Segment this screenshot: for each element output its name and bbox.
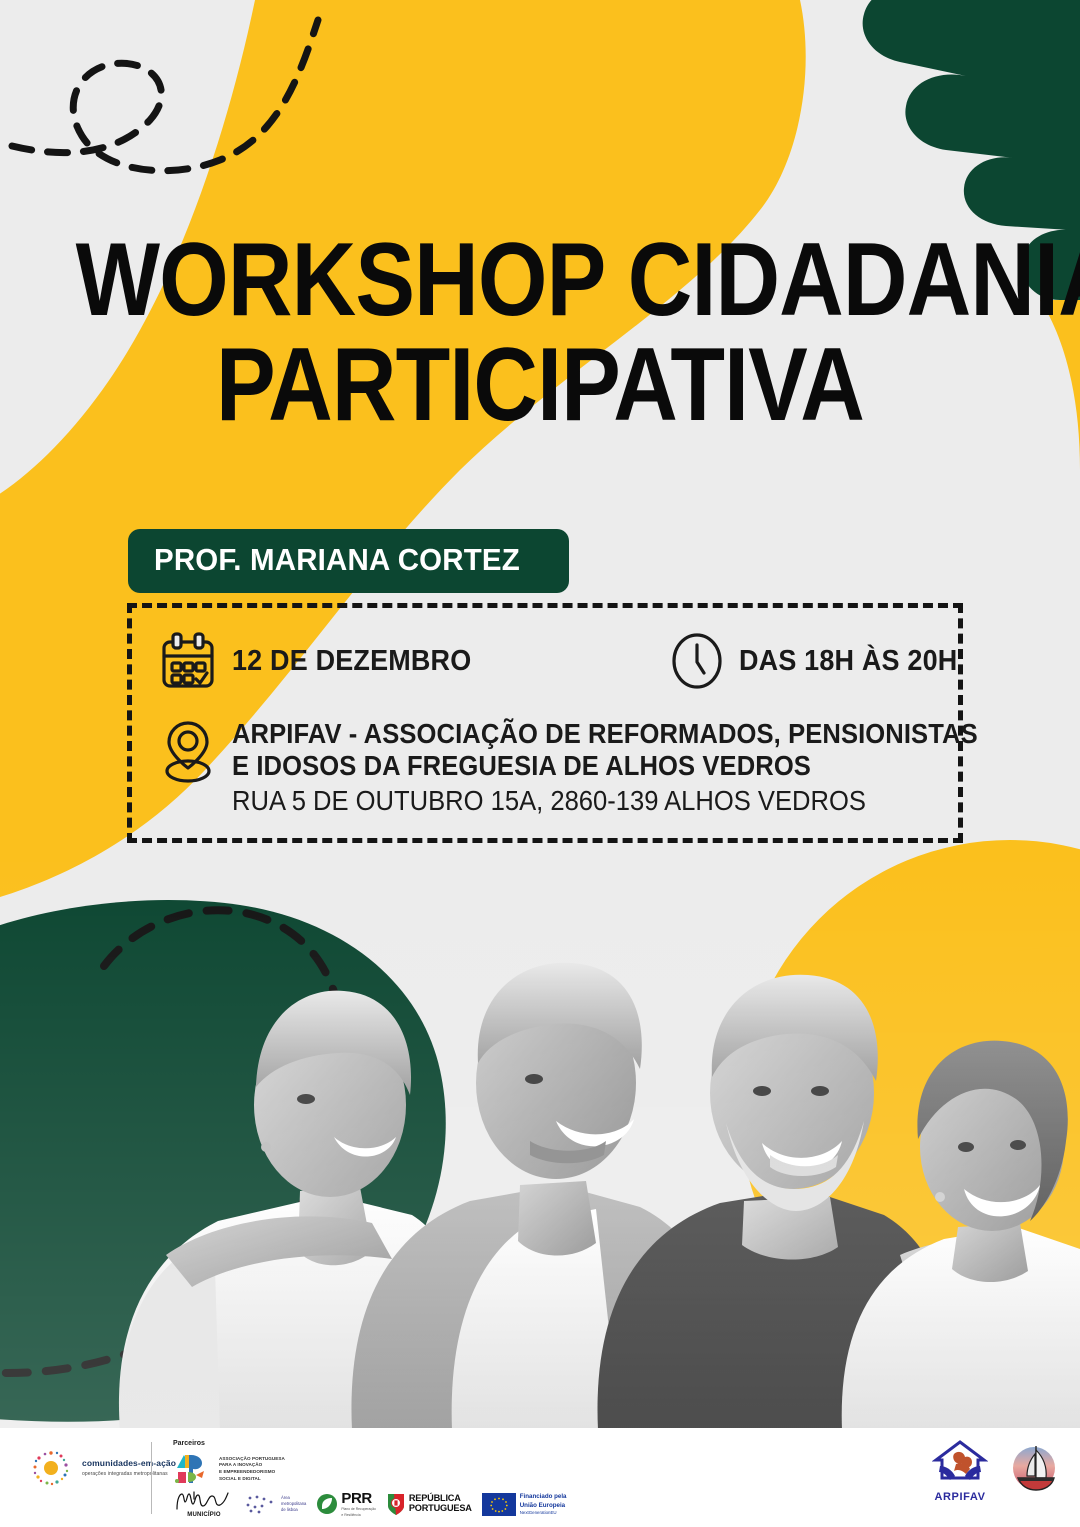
date-time-row: 12 DE DEZEMBRO DAS 18H ÀS 20H	[160, 632, 974, 690]
parceiros-label: Parceiros	[173, 1440, 205, 1447]
speaker-badge: PROF. MARIANA CORTEZ	[128, 529, 569, 593]
republica-line-2: PORTUGUESA	[409, 1504, 472, 1514]
title-line-1: WORKSHOP CIDADANIA	[76, 232, 1005, 329]
comunidades-name: comunidades-em-ação	[82, 1458, 176, 1469]
group-photo	[0, 855, 1080, 1430]
prr-line-2: e Resiliência	[341, 1513, 376, 1517]
prr-line-1: Plano de Recuperação	[341, 1507, 376, 1511]
arpifav-house-icon	[932, 1438, 988, 1490]
venue-line-2: E IDOSOS DA FREGUESIA DE ALHOS VEDROS	[232, 750, 978, 782]
logo-comunidades-em-acao: comunidades-em-ação operações integradas…	[28, 1445, 176, 1491]
logo-freguesia-alhos-vedros	[1006, 1440, 1062, 1501]
aml-line-3: de lisboa	[281, 1507, 306, 1513]
prr-leaf-icon	[316, 1493, 338, 1515]
eu-flag-icon	[482, 1493, 516, 1516]
logo-arpifav: ARPIFAV	[932, 1438, 988, 1503]
arpifav-name: ARPIFAV	[934, 1491, 985, 1503]
logo-aml: Área metropolitana de lisboa	[244, 1494, 306, 1514]
address-line: RUA 5 DE OUTUBRO 15A, 2860-139 ALHOS VED…	[232, 784, 978, 817]
poster-root: WORKSHOP CIDADANIA PARTICIPATIVA PROF. M…	[0, 0, 1080, 1527]
map-pin-icon	[160, 720, 216, 784]
escudo-portugal-icon	[386, 1492, 406, 1516]
logo-prr: PRR Plano de Recuperação e Resiliência	[316, 1491, 376, 1517]
aip-line-4: SOCIAL E DIGITAL	[219, 1476, 285, 1483]
eu-line-3: NextGenerationEU	[520, 1510, 567, 1515]
event-details-box: 12 DE DEZEMBRO DAS 18H ÀS 20H ARPIFAV - …	[127, 603, 963, 843]
time-text: DAS 18H ÀS 20H	[739, 645, 957, 678]
comunidades-sunburst-icon	[28, 1445, 74, 1491]
footer-divider	[151, 1442, 152, 1514]
date-item: 12 DE DEZEMBRO	[160, 632, 489, 690]
page-title: WORKSHOP CIDADANIA PARTICIPATIVA	[0, 232, 1080, 433]
clock-icon	[671, 632, 723, 690]
date-text: 12 DE DEZEMBRO	[232, 645, 471, 678]
moita-script-icon	[174, 1490, 234, 1512]
calendar-check-icon	[160, 632, 216, 690]
footer-right-logos: ARPIFAV	[932, 1438, 1062, 1503]
venue-line-1: ARPIFAV - ASSOCIAÇÃO DE REFORMADOS, PENS…	[232, 718, 978, 750]
moita-sub: MUNICÍPIO	[187, 1512, 220, 1518]
eu-line-2: União Europeia	[520, 1502, 567, 1510]
eu-line-1: Financiado pela	[520, 1493, 567, 1501]
title-line-2: PARTICIPATIVA	[76, 337, 1005, 434]
aml-dots-icon	[244, 1494, 278, 1514]
footer-logo-row: MUNICÍPIO Área metropolitana	[174, 1490, 566, 1518]
time-item: DAS 18H ÀS 20H	[671, 632, 974, 690]
footer-logos: comunidades-em-ação operações integradas…	[0, 1428, 1080, 1527]
location-row: ARPIFAV - ASSOCIAÇÃO DE REFORMADOS, PENS…	[160, 720, 1034, 817]
logo-aip: ASSOCIAÇÃO PORTUGUESA PARA A INOVAÇÃO E …	[174, 1452, 285, 1486]
speaker-name: PROF. MARIANA CORTEZ	[154, 542, 520, 578]
aip-mark-icon	[174, 1452, 214, 1486]
comunidades-subtitle: operações integradas metropolitanas	[82, 1471, 176, 1478]
prr-name: PRR	[341, 1491, 376, 1506]
logo-republica-portuguesa: REPÚBLICA PORTUGUESA	[386, 1492, 472, 1516]
logo-uniao-europeia: Financiado pela União Europeia NextGener…	[482, 1493, 567, 1516]
logo-moita: MUNICÍPIO	[174, 1490, 234, 1518]
address-block: ARPIFAV - ASSOCIAÇÃO DE REFORMADOS, PENS…	[232, 718, 1034, 817]
sailboat-sunset-icon	[1006, 1440, 1062, 1496]
aip-line-3: E EMPREENDEDORISMO	[219, 1469, 285, 1476]
